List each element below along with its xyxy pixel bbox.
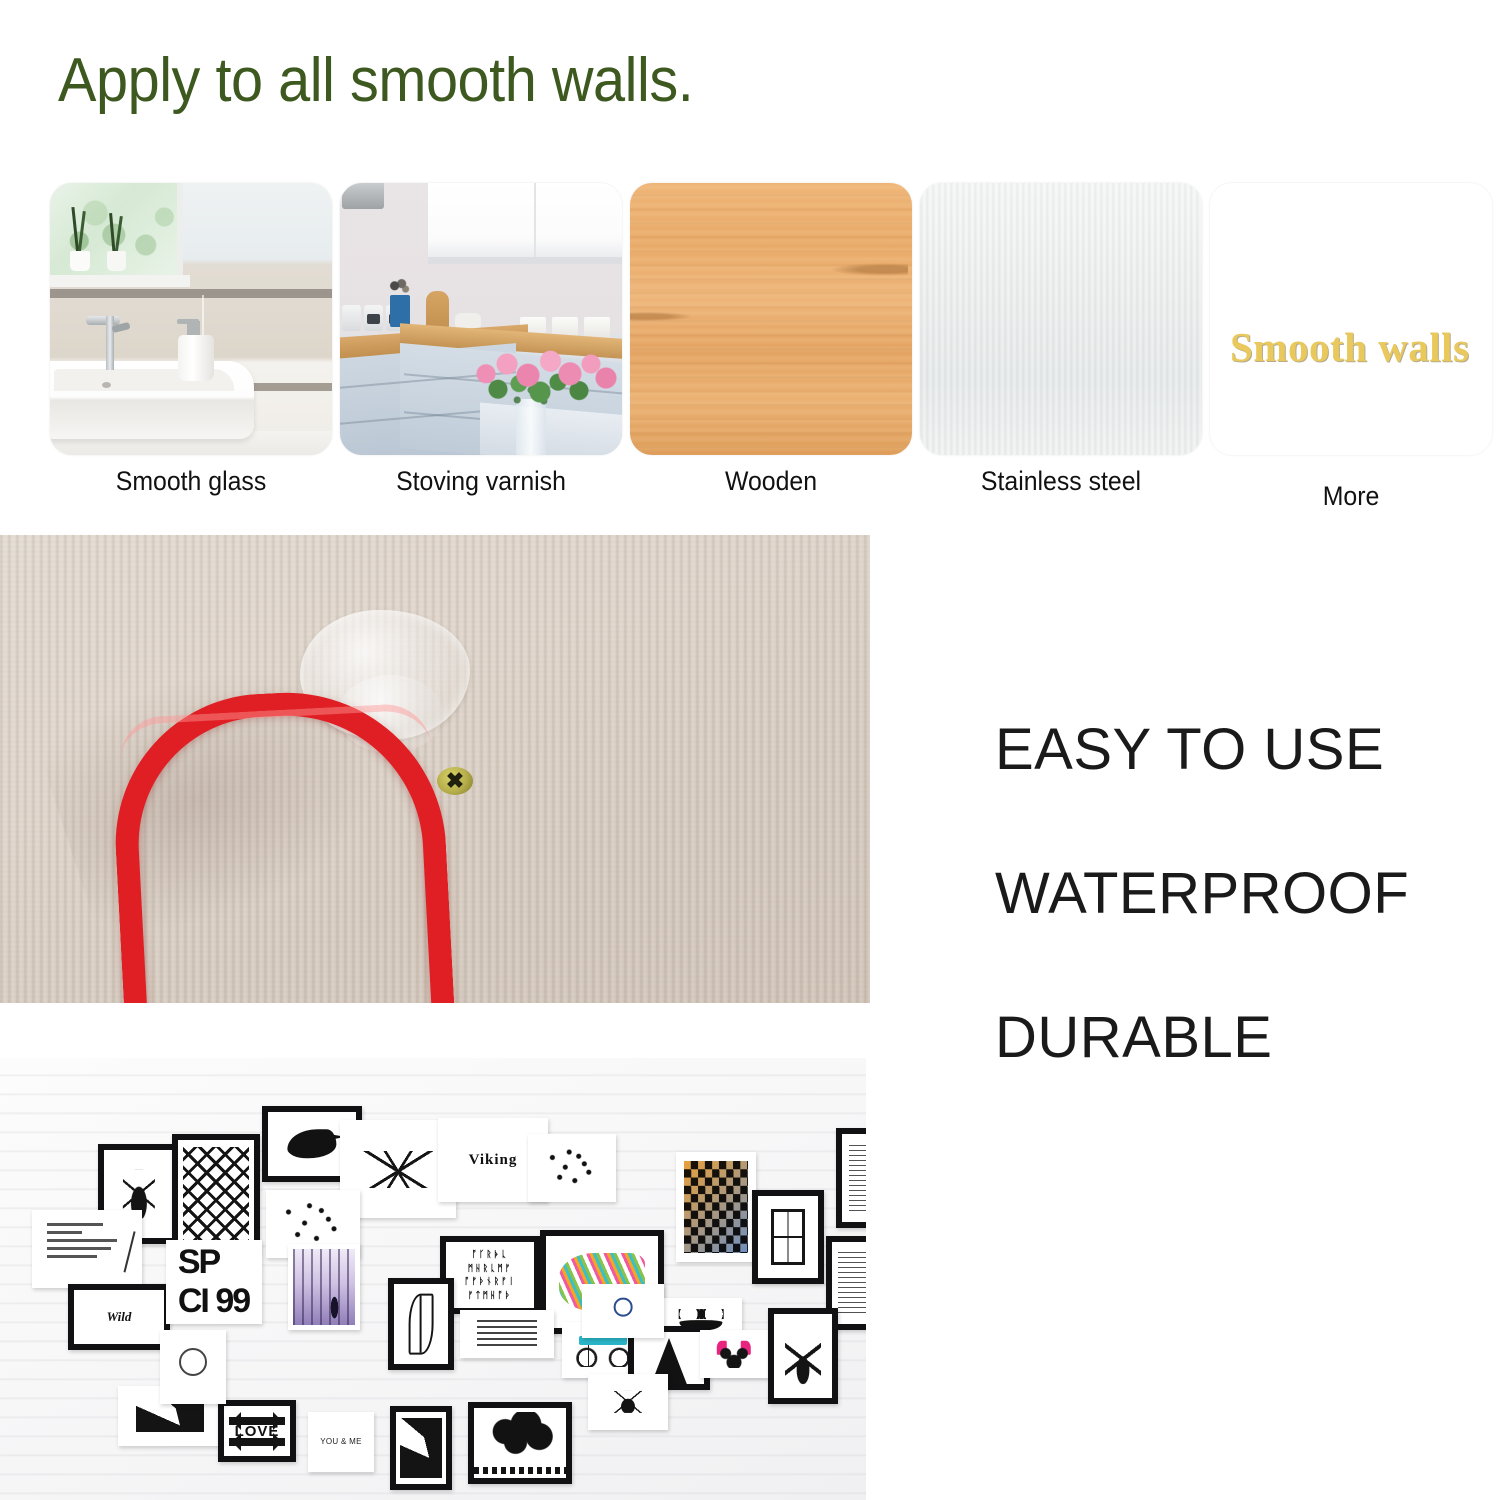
frame-love-arrows: LOVE [218, 1400, 296, 1462]
surface-item-smooth-glass[interactable]: Smooth glass [50, 183, 332, 455]
feature-easy-to-use: EASY TO USE [995, 716, 1384, 783]
infographic-page: Apply to all smooth walls. Smooth glass [0, 0, 1500, 1500]
frame-circle-light [582, 1284, 664, 1338]
frame-forest-deer [288, 1244, 360, 1330]
navy-panel: Smooth walls [1210, 183, 1492, 455]
surface-item-more[interactable]: Smooth walls More [1210, 183, 1492, 455]
kitchen-photo [340, 183, 622, 455]
frame-deer-small [588, 1374, 668, 1430]
frame-leaf [388, 1278, 454, 1370]
frame-text-lines [460, 1310, 554, 1358]
frame-script-note [32, 1210, 142, 1288]
surface-label-wooden: Wooden [641, 466, 900, 497]
surface-item-stoving-varnish[interactable]: Stoving varnish [340, 183, 622, 455]
feature-waterproof: WATERPROOF [995, 860, 1409, 927]
frame-stag-geometric [768, 1308, 838, 1404]
gallery-wall-photo: Viking ᚩᚴᚱᚧᚳᛗᚺᚱᚳᛗᚠᚩᚠᚦᚾᚱᚠᛁᚠᛏᛗᚺᚩᚦ [0, 1058, 866, 1500]
surface-swatch-strip: Smooth glass Stoving varnish [0, 183, 1500, 513]
frame-window-pane [752, 1190, 824, 1284]
surface-item-wooden[interactable]: Wooden [630, 183, 912, 455]
frame-runes: ᚩᚴᚱᚧᚳᛗᚺᚱᚳᛗᚠᚩᚠᚦᚾᚱᚠᛁᚠᛏᛗᚺᚩᚦ [440, 1236, 540, 1314]
screw-icon: ✖ [437, 767, 473, 795]
frame-abstract [390, 1406, 452, 1490]
frame-edge-right [836, 1128, 866, 1228]
wood-texture [630, 183, 912, 455]
frame-text-block [528, 1134, 616, 1202]
frame-wild: Wild [68, 1284, 170, 1350]
frame-diamond-pattern [172, 1134, 260, 1256]
page-title: Apply to all smooth walls. [58, 48, 693, 113]
surface-label-stainless-steel: Stainless steel [931, 466, 1190, 497]
red-hook-handle [108, 685, 458, 1003]
navy-panel-overlay-text: Smooth walls [1230, 323, 1492, 371]
feature-durable: DURABLE [995, 1004, 1272, 1071]
frame-spci-logo: SP CI 99 [166, 1240, 262, 1324]
frame-you-and-me: YOU & ME [308, 1412, 374, 1472]
frame-tree-scene [468, 1402, 572, 1484]
frame-circle-note [160, 1330, 226, 1404]
surface-item-stainless-steel[interactable]: Stainless steel [920, 183, 1202, 455]
surface-label-smooth-glass: Smooth glass [61, 466, 320, 497]
hook-demo-photo: ✖ [0, 535, 870, 1003]
steel-texture [920, 183, 1202, 455]
frame-dog-face [700, 1330, 768, 1378]
surface-label-stoving-varnish: Stoving varnish [351, 466, 610, 497]
surface-label-more: More [1221, 481, 1480, 512]
bathroom-photo [50, 183, 332, 455]
frame-color-checker [676, 1152, 756, 1262]
